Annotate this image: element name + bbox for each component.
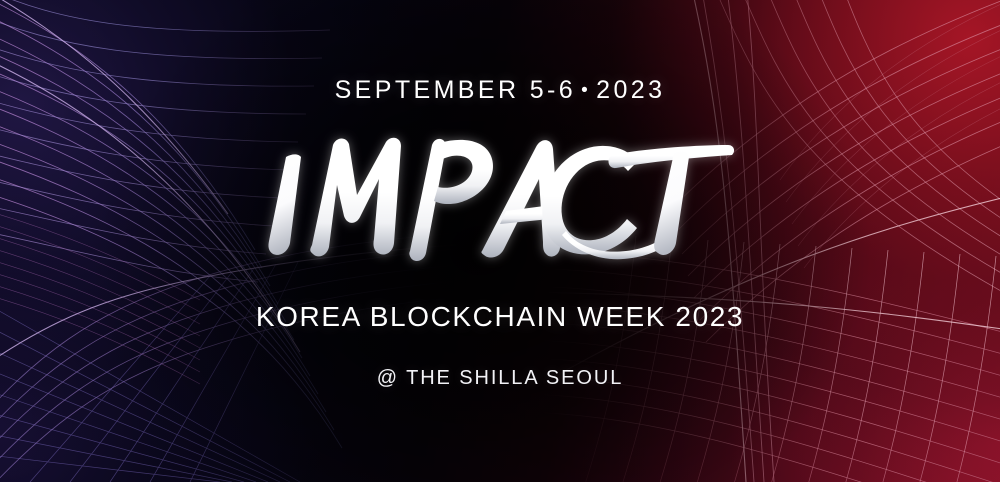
event-venue: @ THE SHILLA SEOUL bbox=[377, 367, 623, 390]
impact-poster: SEPTEMBER 5-6•2023 bbox=[0, 0, 1000, 482]
event-date-line: SEPTEMBER 5-6•2023 bbox=[335, 76, 666, 105]
event-subtitle: KOREA BLOCKCHAIN WEEK 2023 bbox=[256, 301, 744, 333]
event-year: 2023 bbox=[596, 76, 665, 104]
poster-content: SEPTEMBER 5-6•2023 bbox=[0, 0, 1000, 482]
impact-wordmark bbox=[260, 123, 740, 275]
event-date-range: SEPTEMBER 5-6 bbox=[335, 76, 576, 104]
date-separator-bullet: • bbox=[576, 80, 596, 102]
